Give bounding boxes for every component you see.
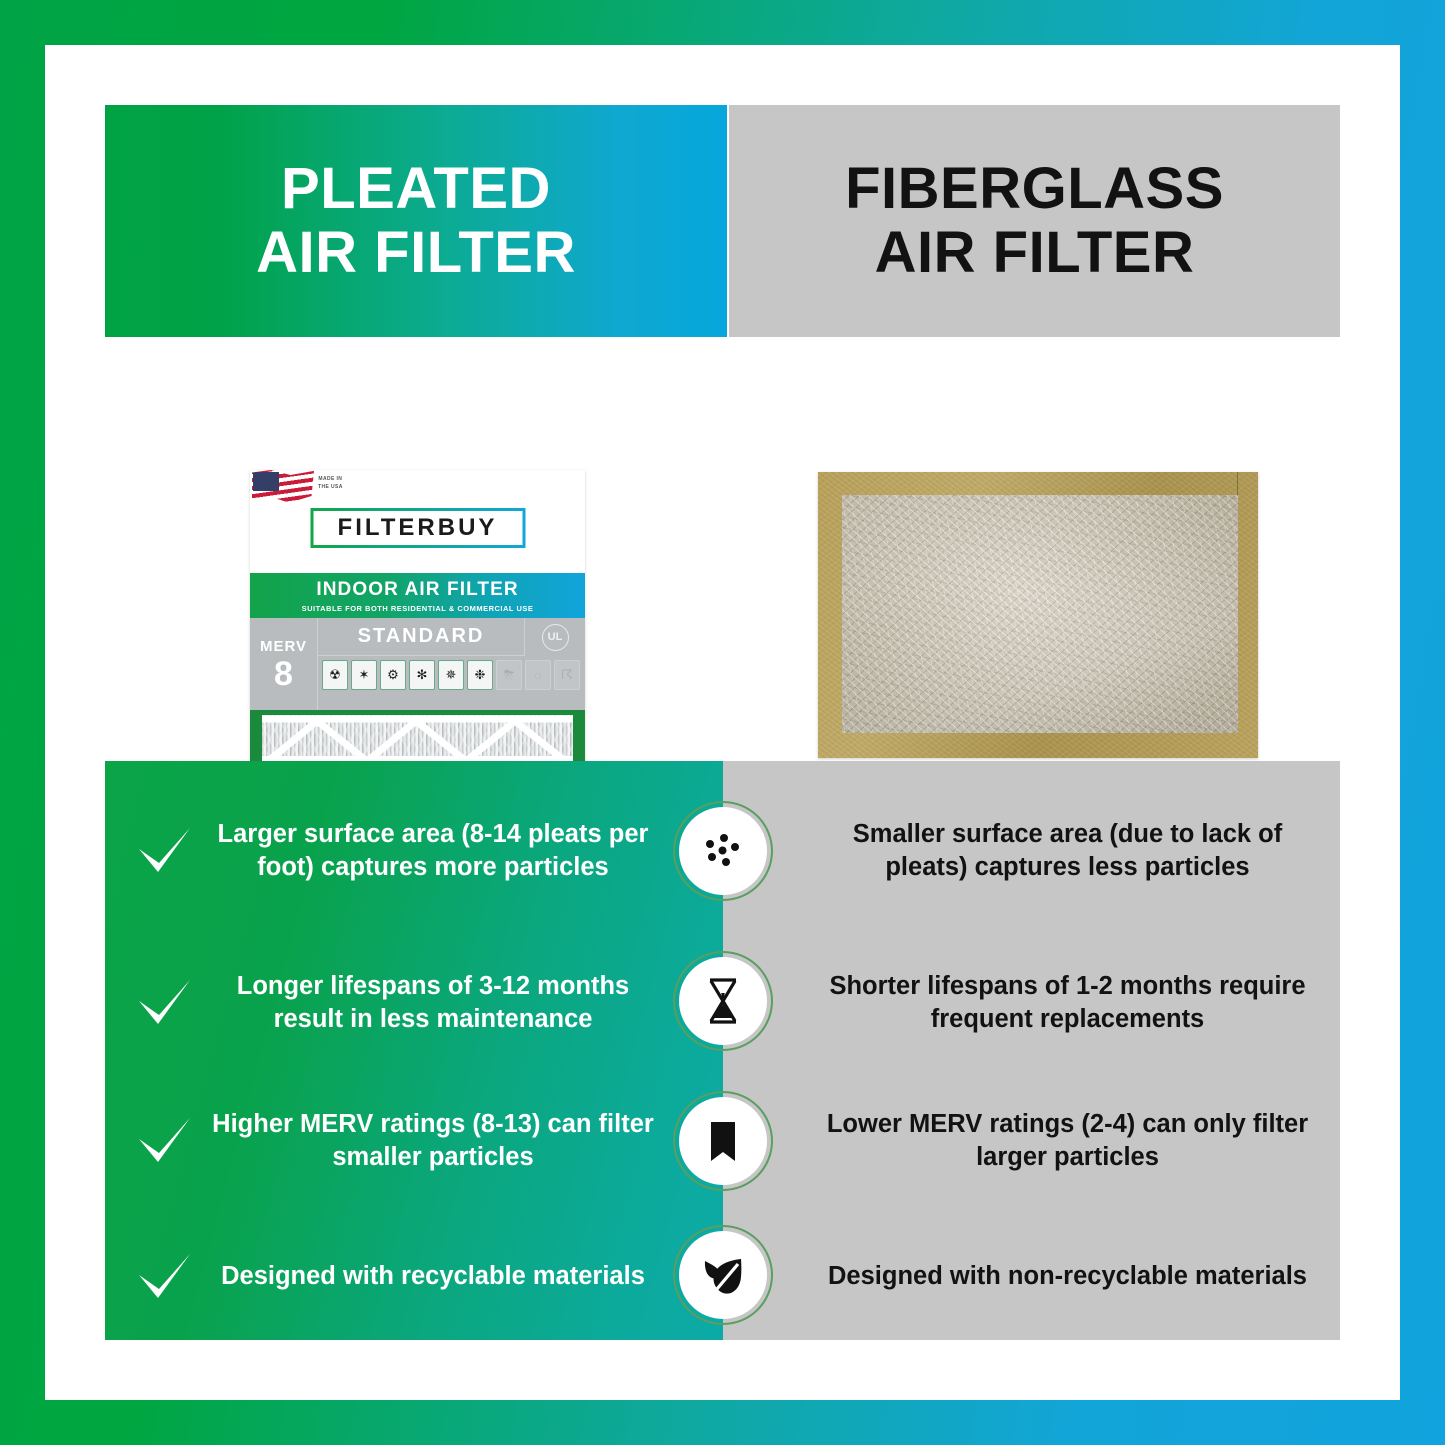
checkmark-icon (133, 1248, 195, 1306)
capture-tile-bacteria-icon: ⚙ (380, 660, 406, 690)
frame-seam (1237, 472, 1239, 495)
comparison-row-right: Shorter lifespans of 1-2 months require … (723, 970, 1340, 1036)
filterbuy-logo-box: FILTERBUY (310, 508, 525, 548)
comparison-row-right: Lower MERV ratings (2-4) can only filter… (723, 1108, 1340, 1174)
made-in-line2: THE USA (318, 484, 343, 492)
pleated-header: PLEATED AIR FILTER (105, 105, 727, 337)
comparison-row-left: Designed with recyclable materials (105, 1248, 723, 1306)
merv-value: 8 (274, 657, 293, 691)
band-subtitle: SUITABLE FOR BOTH RESIDENTIAL & COMMERCI… (302, 604, 534, 613)
comparison-right-text: Lower MERV ratings (2-4) can only filter… (819, 1108, 1316, 1174)
comparison-row-right: Smaller surface area (due to lack of ple… (723, 818, 1340, 884)
checkmark-icon (133, 1112, 195, 1170)
indoor-air-filter-band: INDOOR AIR FILTER SUITABLE FOR BOTH RESI… (250, 573, 585, 618)
comparison-left-text: Designed with recyclable materials (209, 1260, 723, 1293)
capture-tile-mite-icon: ✶ (351, 660, 377, 690)
fiberglass-header-line1: FIBERGLASS (845, 157, 1224, 221)
band-title: INDOOR AIR FILTER (316, 579, 518, 601)
particles-icon-badge (673, 801, 773, 901)
hourglass-icon (679, 957, 767, 1045)
particles-icon (679, 807, 767, 895)
capture-tile-pet-dander-icon: ❉ (467, 660, 493, 690)
comparison-left-text: Higher MERV ratings (8-13) can filter sm… (209, 1108, 723, 1174)
comparison-right-text: Shorter lifespans of 1-2 months require … (819, 970, 1316, 1036)
bookmark-icon-badge (673, 1091, 773, 1191)
capture-tile-virus-icon: ☈ (554, 660, 580, 690)
fiberglass-header: FIBERGLASS AIR FILTER (729, 105, 1340, 337)
hourglass-icon-badge (673, 951, 773, 1051)
made-in-line1: MADE IN (318, 476, 343, 484)
leaf-icon-badge (673, 1225, 773, 1325)
comparison-row-left: Longer lifespans of 3-12 months result i… (105, 970, 723, 1036)
comparison-panel: Larger surface area (8-14 pleats per foo… (105, 761, 1340, 1340)
made-in-usa-label: MADE IN THE USA (318, 476, 343, 491)
grade-label: STANDARD (318, 618, 525, 656)
comparison-row-right: Designed with non-recyclable materials (723, 1260, 1340, 1293)
comparison-left-text: Larger surface area (8-14 pleats per foo… (209, 818, 723, 884)
capture-tile-mold-icon: ✻ (409, 660, 435, 690)
usa-flag-icon (252, 470, 314, 512)
comparison-right-text: Designed with non-recyclable materials (819, 1260, 1316, 1293)
comparison-row-left: Higher MERV ratings (8-13) can filter sm… (105, 1108, 723, 1174)
comparison-right-text: Smaller surface area (due to lack of ple… (819, 818, 1316, 884)
capture-tile-smoke-icon: ⛈ (496, 660, 522, 690)
product-images-row: MADE IN THE USA FILTERBUY INDOOR AIR FIL… (105, 337, 1340, 761)
spec-panel: MERV 8 STANDARD UL ☢ ✶ ⚙ ✻ ✵ ❉ ⛈ (250, 618, 585, 710)
ul-certification: UL (525, 618, 585, 656)
fiberglass-header-title: FIBERGLASS AIR FILTER (845, 157, 1224, 285)
ul-seal-icon: UL (542, 624, 569, 651)
pleated-box-top: MADE IN THE USA FILTERBUY (250, 470, 585, 573)
comparison-row-left: Larger surface area (8-14 pleats per foo… (105, 818, 723, 884)
pleated-header-line2: AIR FILTER (256, 221, 576, 285)
pleated-header-line1: PLEATED (256, 157, 576, 221)
infographic-frame: PLEATED AIR FILTER FIBERGLASS AIR FILTER… (45, 45, 1400, 1400)
infographic-canvas: PLEATED AIR FILTER FIBERGLASS AIR FILTER… (105, 105, 1340, 1340)
capture-tile-dust-icon: ☢ (322, 660, 348, 690)
fiberglass-filter-product-image (818, 472, 1258, 758)
pleated-header-title: PLEATED AIR FILTER (256, 157, 576, 285)
bookmark-icon (679, 1097, 767, 1185)
merv-label: MERV (260, 638, 307, 655)
fiberglass-header-line2: AIR FILTER (845, 221, 1224, 285)
headers-row: PLEATED AIR FILTER FIBERGLASS AIR FILTER (105, 105, 1340, 337)
capture-tile-pollen-icon: ✵ (438, 660, 464, 690)
comparison-left-text: Longer lifespans of 3-12 months result i… (209, 970, 723, 1036)
checkmark-icon (133, 974, 195, 1032)
checkmark-icon (133, 822, 195, 880)
capture-icon-strip: ☢ ✶ ⚙ ✻ ✵ ❉ ⛈ ◌ ☈ (322, 660, 580, 704)
leaf-icon (679, 1231, 767, 1319)
capture-tile-bacteria2-icon: ◌ (525, 660, 551, 690)
filterbuy-logo-text: FILTERBUY (338, 514, 498, 542)
merv-rating-block: MERV 8 (250, 618, 318, 710)
fiberglass-media (842, 495, 1238, 733)
